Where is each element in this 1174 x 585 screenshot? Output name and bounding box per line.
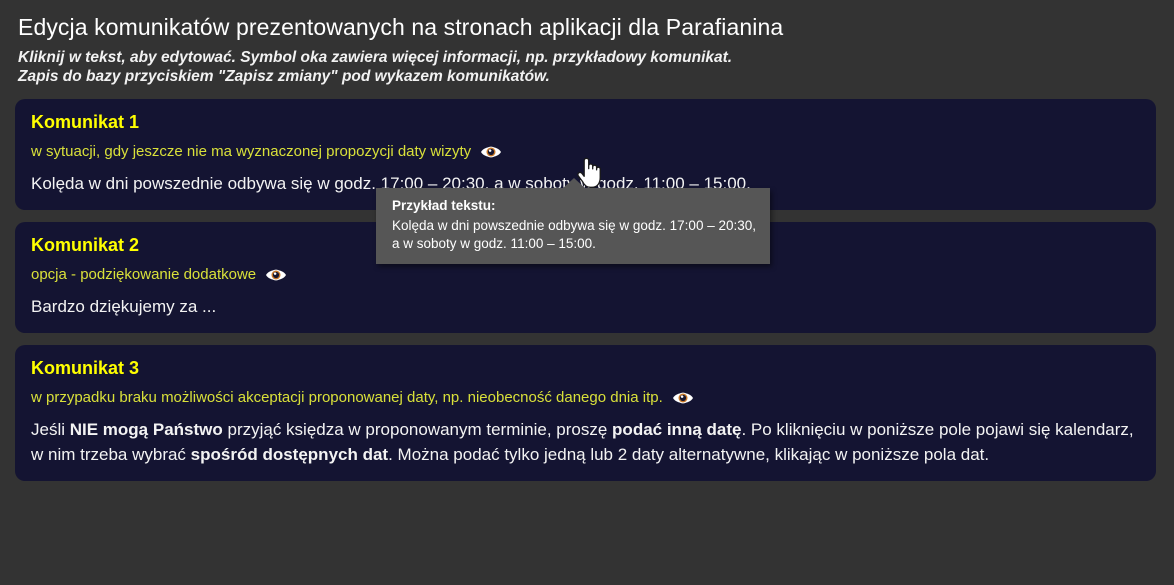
komunikat-card-3[interactable]: Komunikat 3 w przypadku braku możliwości… bbox=[15, 345, 1156, 481]
tooltip-text: Kolęda w dni powszednie odbywa się w god… bbox=[392, 217, 757, 253]
eye-icon[interactable] bbox=[672, 390, 694, 406]
tooltip-arrow bbox=[562, 178, 586, 189]
body-text: przyjąć księdza w proponowanym terminie,… bbox=[223, 420, 612, 439]
instruction-line-2-post: pod wykazem komunikatów. bbox=[338, 68, 550, 85]
body-text: . Można podać tylko jedną lub 2 daty alt… bbox=[388, 445, 989, 464]
tooltip-title: Przykład tekstu: bbox=[392, 197, 757, 215]
komunikat-2-hint-text: opcja - podziękowanie dodatkowe bbox=[31, 265, 256, 285]
page-title: Edycja komunikatów prezentowanych na str… bbox=[18, 12, 1156, 42]
komunikat-1-hint-row: w sytuacji, gdy jeszcze nie ma wyznaczon… bbox=[31, 142, 1140, 162]
body-emphasis: spośród dostępnych dat bbox=[191, 445, 388, 464]
example-text-tooltip: Przykład tekstu: Kolęda w dni powszednie… bbox=[376, 188, 770, 264]
komunikat-1-title: Komunikat 1 bbox=[31, 111, 1140, 133]
komunikat-3-hint-row: w przypadku braku możliwości akceptacji … bbox=[31, 388, 1140, 408]
page-header: Edycja komunikatów prezentowanych na str… bbox=[0, 0, 1174, 86]
komunikat-3-title: Komunikat 3 bbox=[31, 357, 1140, 379]
instruction-line-1: Kliknij w tekst, aby edytować. Symbol ok… bbox=[18, 48, 1156, 67]
eye-icon[interactable] bbox=[265, 267, 287, 283]
body-text: Jeśli bbox=[31, 420, 70, 439]
eye-icon[interactable] bbox=[480, 144, 502, 160]
komunikat-1-hint-text: w sytuacji, gdy jeszcze nie ma wyznaczon… bbox=[31, 142, 471, 162]
body-emphasis: podać inną datę bbox=[612, 420, 741, 439]
instruction-line-2-pre: Zapis do bazy przyciskiem bbox=[18, 68, 218, 85]
instruction-save-button-name: "Zapisz zmiany" bbox=[218, 68, 338, 85]
page-instructions: Kliknij w tekst, aby edytować. Symbol ok… bbox=[18, 48, 1156, 86]
body-emphasis: NIE mogą Państwo bbox=[70, 420, 223, 439]
komunikat-2-body[interactable]: Bardzo dziękujemy za ... bbox=[31, 294, 1140, 319]
komunikat-3-body[interactable]: Jeśli NIE mogą Państwo przyjąć księdza w… bbox=[31, 417, 1140, 467]
komunikat-3-hint-text: w przypadku braku możliwości akceptacji … bbox=[31, 388, 663, 408]
instruction-line-2: Zapis do bazy przyciskiem "Zapisz zmiany… bbox=[18, 67, 1156, 86]
komunikat-2-hint-row: opcja - podziękowanie dodatkowe bbox=[31, 265, 1140, 285]
komunikat-list: Komunikat 1 w sytuacji, gdy jeszcze nie … bbox=[0, 99, 1174, 481]
